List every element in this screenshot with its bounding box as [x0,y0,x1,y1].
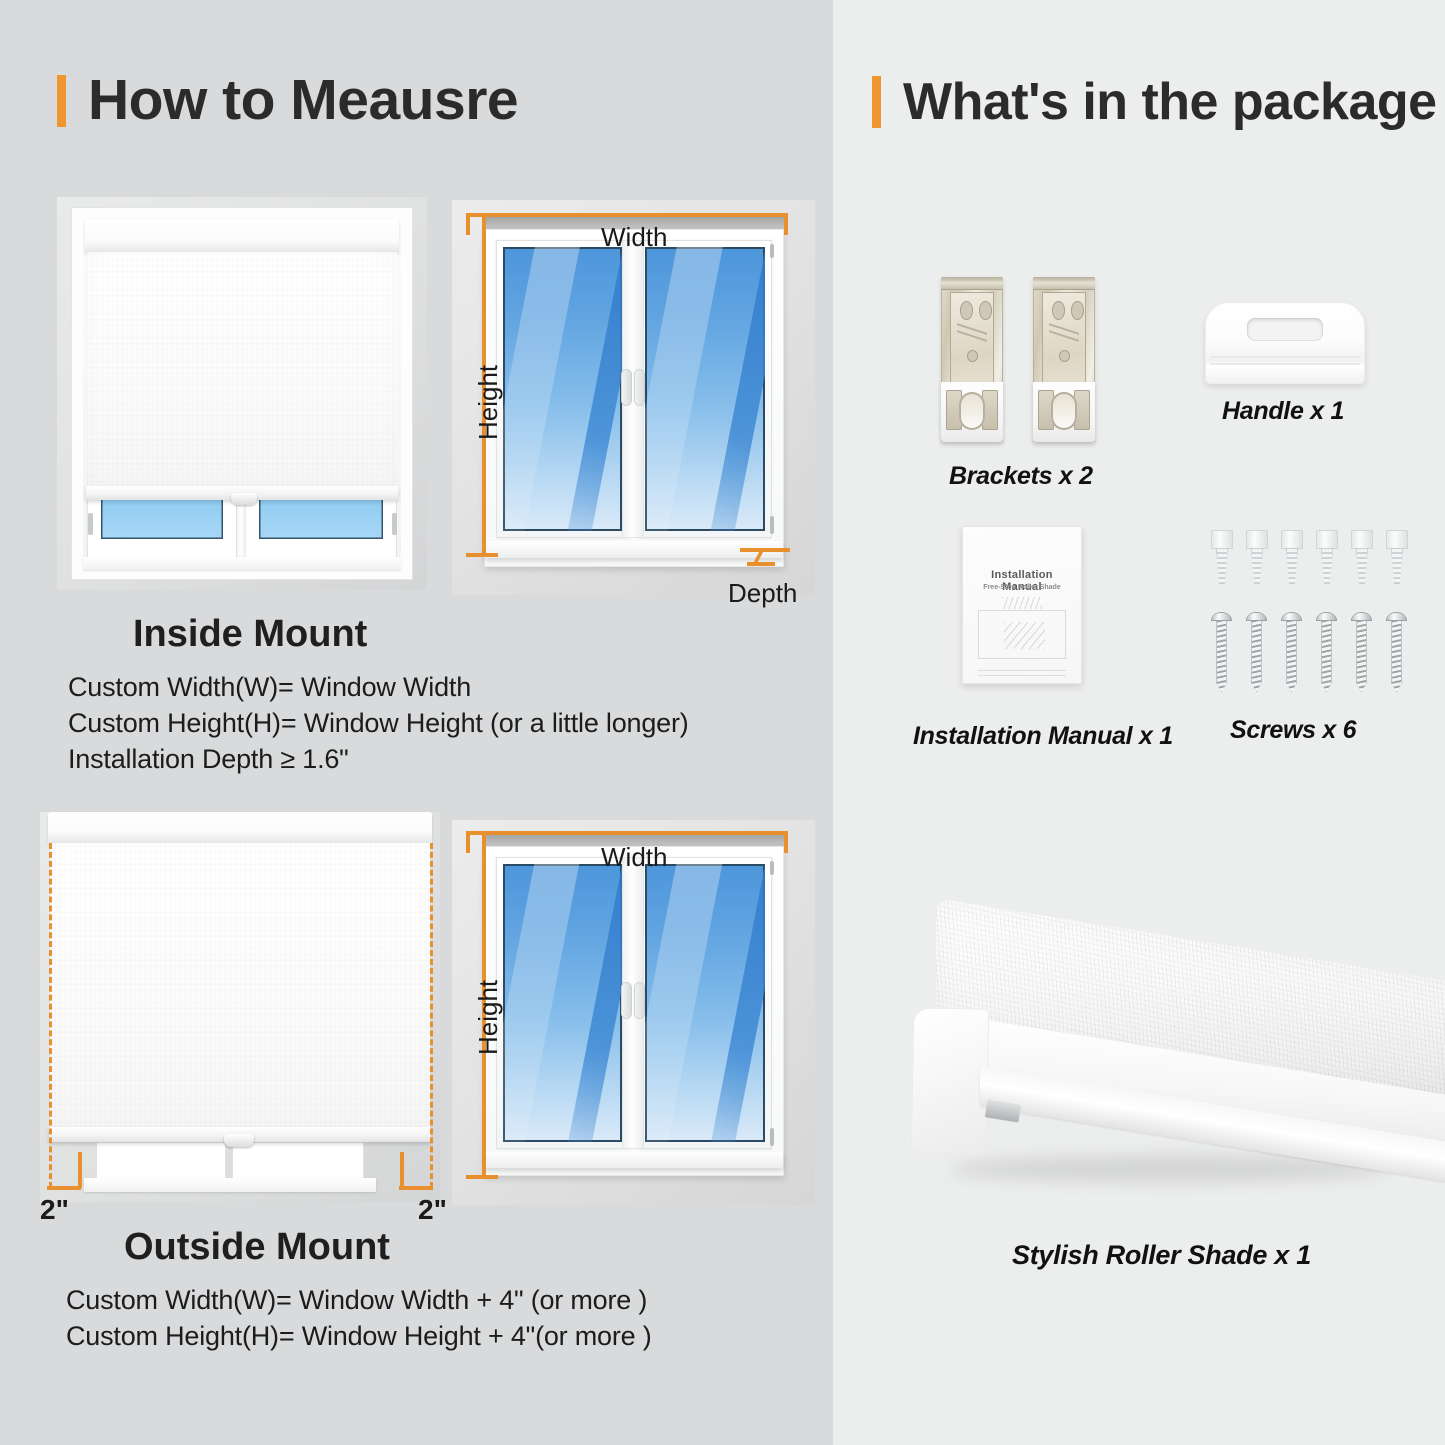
bracket-slot-2 [1071,301,1084,320]
glass-reflection [645,247,727,531]
anchor-body [1216,548,1228,584]
window-hinge-bottom [770,516,774,534]
window-hinge-top [770,861,774,875]
anchor-body [1251,548,1263,584]
bracket-slot-1 [960,301,973,320]
height-marker-cap-top [466,831,498,835]
glass-reflection [645,864,726,1142]
bracket-plastic-base [941,382,1003,442]
wall-anchor-4 [1316,530,1338,584]
screw-5 [1351,612,1372,692]
anchor-head [1351,530,1373,549]
height-label-inside: Height [473,365,504,440]
installation-manual-art: Installation Manual Free-Stop Roller Sha… [962,526,1082,684]
outside-mount-spec-1: Custom Width(W)= Window Width + 4" (or m… [66,1285,647,1316]
anchor-body [1391,548,1403,584]
screw-head [1211,612,1232,621]
screw-6 [1386,612,1407,692]
screw-head [1246,612,1267,621]
depth-label-inside: Depth [728,578,797,609]
screw-head [1386,612,1407,621]
bracket-slot-3 [1059,350,1070,362]
width-label-outside: Width [601,842,667,873]
wall-anchor-1 [1211,530,1233,584]
manual-cover-subtitle: Free-Stop Roller Shade [972,584,1073,591]
shade-headrail [85,220,399,253]
screw-shaft [1321,620,1331,692]
shade-end-cap [911,1007,990,1156]
width-label-inside: Width [601,222,667,253]
depth-marker-line [740,548,790,552]
screw-4 [1316,612,1337,692]
screw-shaft [1391,620,1401,692]
heading-accent-bar [872,76,881,128]
outside-mount-shade-illustration [40,812,440,1202]
inside-mount-spec-2: Custom Height(H)= Window Height (or a li… [68,708,689,739]
bracket-slot-3 [967,350,978,362]
window-hinge-bottom [770,1128,774,1146]
inside-mount-title: Inside Mount [133,613,367,656]
page-title-left: How to Meausre [88,72,518,129]
handle-art [1205,302,1365,384]
wall-anchor-5 [1351,530,1373,584]
width-marker-cap-right [784,213,788,235]
roller-shade-hero-art [890,880,1445,1210]
overhang-dash-left [49,843,52,1188]
inside-mount-measure-diagram [452,200,815,595]
depth-marker-base [747,562,775,566]
overhang-inner-right [400,1152,404,1188]
outside-mount-measure-diagram [452,820,815,1205]
shade-pull-handle [224,1134,254,1147]
screw-1 [1211,612,1232,692]
window-sill [485,1152,783,1168]
height-label-outside: Height [473,980,504,1055]
shade-pull-handle [231,493,257,505]
bracket-mount-hole [1051,392,1077,430]
window-pane-right [645,247,765,531]
bracket-art-2 [1033,277,1095,442]
handle-groove-2 [1210,363,1360,365]
window-sill [84,1178,376,1192]
manual-cover-illustration-box [978,610,1067,659]
outside-mount-spec-2: Custom Height(H)= Window Height + 4"(or … [66,1321,652,1352]
window-sill [83,557,401,570]
anchor-head [1281,530,1303,549]
brackets-label: Brackets x 2 [949,462,1093,491]
width-marker-cap-right [784,831,788,853]
screw-2 [1246,612,1267,692]
page-title-right: What's in the package [903,76,1437,128]
overhang-dash-right [430,843,433,1188]
anchor-head [1316,530,1338,549]
screw-3 [1281,612,1302,692]
inside-mount-spec-1: Custom Width(W)= Window Width [68,672,471,703]
wall-anchor-6 [1386,530,1408,584]
anchor-body [1321,548,1333,584]
shade-rail-chrome-tip [985,1099,1021,1122]
bracket-top-flange [941,277,1003,290]
width-marker-line [466,831,788,835]
height-marker-cap-bottom [466,1175,498,1179]
bracket-art-1 [941,277,1003,442]
screw-shaft [1286,620,1296,692]
installation-manual-label: Installation Manual x 1 [913,722,1173,751]
anchor-body [1356,548,1368,584]
shade-headrail [48,812,432,844]
wall-anchor-3 [1281,530,1303,584]
overhang-arrow-right [399,1186,433,1190]
screw-head [1351,612,1372,621]
anchor-head [1386,530,1408,549]
window-pane-right [645,864,765,1142]
bracket-slot-2 [979,301,992,320]
shade-fabric [87,252,397,488]
infographic-page: How to Meausre [0,0,1445,1445]
right-panel-heading: What's in the package [872,76,1437,128]
bracket-slot-1 [1052,301,1065,320]
window-sill [485,541,783,558]
wall-anchor-2 [1246,530,1268,584]
anchor-body [1286,548,1298,584]
heading-accent-bar [57,75,66,127]
handle-label: Handle x 1 [1222,397,1344,426]
handle-groove-1 [1210,356,1360,358]
glass-reflection [503,864,584,1142]
screws-label: Screws x 6 [1230,716,1356,745]
window-hinge-top [770,244,774,258]
screw-shaft [1356,620,1366,692]
overhang-label-left: 2" [40,1194,69,1226]
width-marker-line [466,213,788,217]
inside-mount-shade-illustration [57,197,427,590]
window-glass-left [101,497,223,539]
left-panel-heading: How to Meausre [57,72,518,129]
screw-head [1281,612,1302,621]
window-pane-left [503,247,622,531]
window-pane-left [503,864,622,1142]
bracket-mount-hole [959,392,985,430]
handle-grip-slot [1247,318,1324,341]
window-handle-right [635,370,644,405]
window-handle-left [622,370,631,405]
manual-cover-scribble [1002,597,1043,609]
anchor-head [1211,530,1233,549]
window-glass-right [259,497,383,539]
screw-shaft [1251,620,1261,692]
window-hinge-right [392,513,397,535]
height-marker-cap-top [466,213,498,217]
handle-body [1205,302,1365,384]
overhang-label-right: 2" [418,1194,447,1226]
roller-shade-label: Stylish Roller Shade x 1 [1012,1240,1311,1271]
bracket-plastic-base [1033,382,1095,442]
glass-reflection [503,247,585,531]
outside-mount-title: Outside Mount [124,1226,390,1269]
window-handle-left [622,983,631,1018]
overhang-inner-left [78,1152,82,1188]
window-hinge-left [88,513,93,535]
manual-cover-footer-lines [978,666,1067,676]
window-handle-right [635,983,644,1018]
screw-shaft [1216,620,1226,692]
height-marker-cap-bottom [466,553,498,557]
screw-head [1316,612,1337,621]
anchor-head [1246,530,1268,549]
shade-fabric [50,843,430,1129]
overhang-arrow-left [47,1186,81,1190]
inside-mount-spec-3: Installation Depth ≥ 1.6" [68,744,349,775]
bracket-top-flange [1033,277,1095,290]
